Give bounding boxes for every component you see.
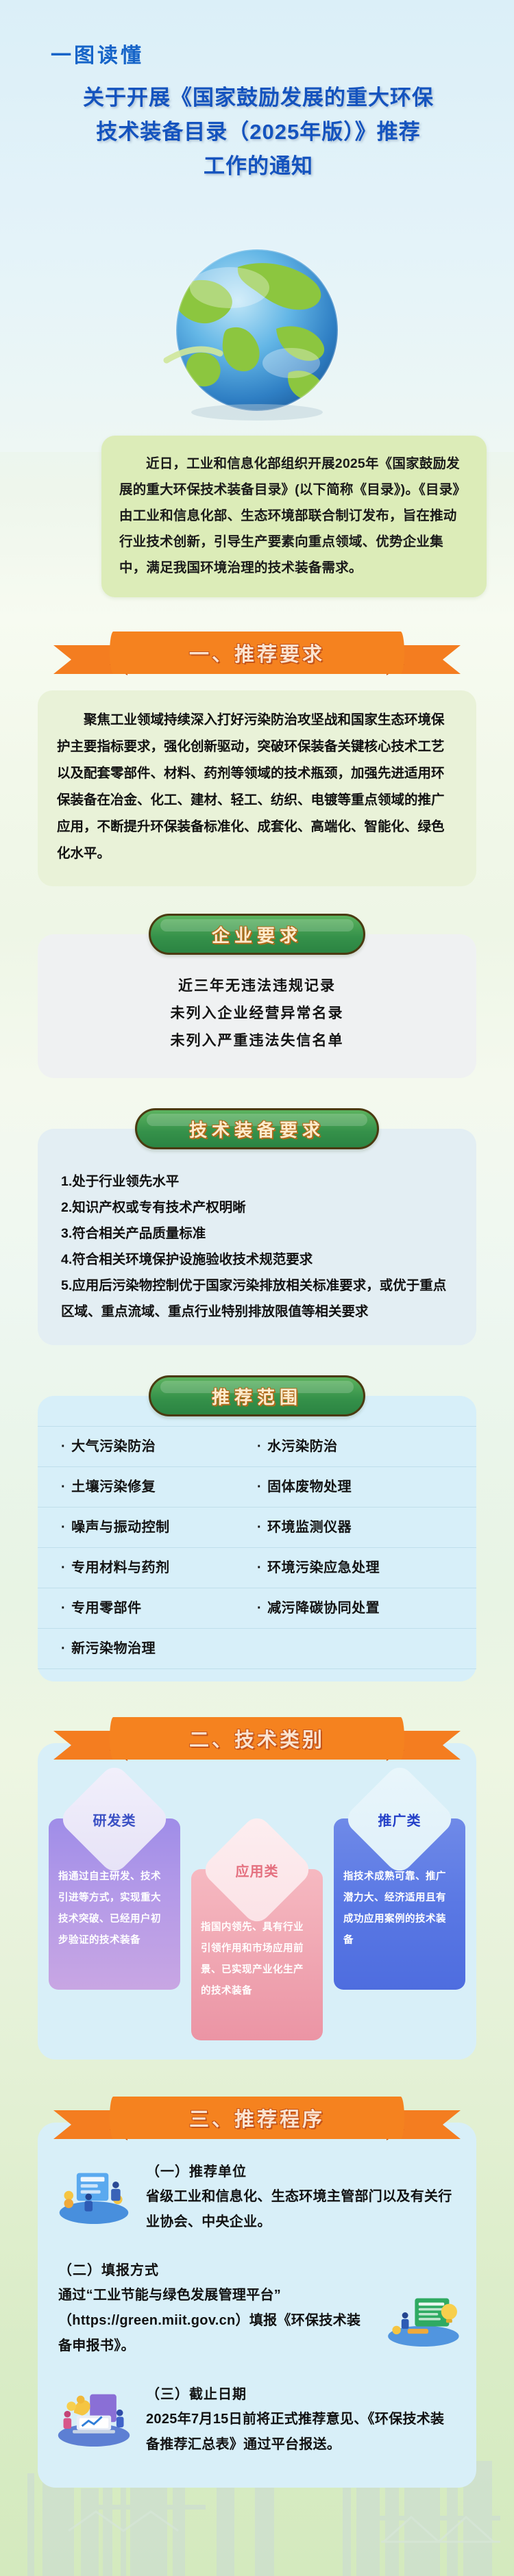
- ribbon-body: 二、技术类别: [110, 1717, 404, 1760]
- scope-row: ·噪声与振动控制 ·环境监测仪器: [38, 1507, 476, 1547]
- title-line-3: 工作的通知: [42, 149, 474, 184]
- bullet-dot-icon: ·: [257, 1520, 262, 1535]
- bullet-dot-icon: ·: [257, 1439, 262, 1454]
- scope-cell: ·专用材料与药剂: [61, 1548, 257, 1588]
- tech-category-app-name: 应用类: [217, 1829, 297, 1910]
- ribbon-body: 三、推荐程序: [110, 2097, 404, 2139]
- scope-cell-text: 土壤污染修复: [71, 1479, 156, 1495]
- scope-cell: ·环境监测仪器: [257, 1508, 453, 1547]
- scope-cell: ·大气污染防治: [61, 1427, 257, 1466]
- bullet-dot-icon: ·: [257, 1479, 262, 1495]
- equipment-item: 5.应用后污染物控制优于国家污染排放相关标准要求，或优于重点区域、重点流域、重点…: [61, 1273, 453, 1325]
- laptop-growth-icon: [54, 2386, 134, 2449]
- section-banner-1-label: 一、推荐要求: [189, 638, 325, 667]
- procedure-block-1-text: 省级工业和信息化、生态环境主管部门以及有关行业协会、中央企业。: [146, 2184, 456, 2235]
- scope-cell-text: 环境监测仪器: [267, 1520, 352, 1535]
- ribbon-body: 一、推荐要求: [110, 632, 404, 674]
- scope-cell: ·专用零部件: [61, 1588, 257, 1628]
- scope-row: ·大气污染防治 ·水污染防治: [38, 1426, 476, 1466]
- scope-cell-text: 固体废物处理: [267, 1479, 352, 1495]
- diamond-cap-icon: 推广类: [343, 1762, 457, 1877]
- scope-row: ·新污染物治理: [38, 1628, 476, 1669]
- bullet-dot-icon: ·: [61, 1641, 66, 1656]
- scope-cell: ·固体废物处理: [257, 1467, 453, 1507]
- equipment-requirements-card: 1.处于行业领先水平 2.知识产权或专有技术产权明晰 3.符合相关产品质量标准 …: [38, 1129, 476, 1345]
- equipment-item: 4.符合相关环境保护设施验收技术规范要求: [61, 1247, 453, 1273]
- tech-category-promote-desc: 指技术成熟可靠、推广潜力大、经济适用且有成功应用案例的技术装备: [343, 1866, 456, 1951]
- tech-category-promote: 推广类 指技术成熟可靠、推广潜力大、经济适用且有成功应用案例的技术装备: [334, 1779, 465, 1990]
- section-banner-3: 三、推荐程序: [110, 2097, 404, 2144]
- section-banner-2: 二、技术类别: [110, 1717, 404, 1765]
- bullet-dot-icon: ·: [61, 1439, 66, 1454]
- scope-card: ·大气污染防治 ·水污染防治 ·土壤污染修复 ·固体废物处理 ·噪声与振动控制 …: [38, 1396, 476, 1681]
- eyebrow-label: 一图读懂: [51, 38, 144, 68]
- scope-label: 推荐范围: [212, 1384, 302, 1409]
- enterprise-line: 未列入企业经营异常名录: [51, 1000, 463, 1027]
- scope-cell-empty: [257, 1629, 453, 1668]
- title-line-2: 技术装备目录（2025年版）》推荐: [42, 115, 474, 149]
- enterprise-line: 未列入严重违法失信名单: [51, 1027, 463, 1055]
- procedure-block-3: （三）截止日期 2025年7月15日前将正式推荐意见、《环保技术装备推荐汇总表》…: [58, 2382, 456, 2458]
- equipment-item: 1.处于行业领先水平: [61, 1168, 453, 1195]
- intro-text: 近日，工业和信息化部组织开展2025年《国家鼓励发展的重大环保技术装备目录》(以…: [119, 451, 469, 581]
- section-1-body-card: 聚焦工业领域持续深入打好污染防治攻坚战和国家生态环境保护主要指标要求，强化创新驱…: [38, 690, 476, 886]
- bullet-dot-icon: ·: [61, 1520, 66, 1535]
- infographic-page: 一图读懂 关于开展《国家鼓励发展的重大环保 技术装备目录（2025年版）》推荐 …: [0, 0, 514, 2549]
- scope-cell-text: 新污染物治理: [71, 1641, 156, 1656]
- equipment-requirements-pill: 技术装备要求: [135, 1108, 379, 1149]
- scope-pill: 推荐范围: [149, 1375, 365, 1416]
- bullet-dot-icon: ·: [61, 1479, 66, 1495]
- scope-cell-text: 噪声与振动控制: [71, 1520, 170, 1535]
- diamond-cap-icon: 应用类: [200, 1813, 315, 1927]
- scope-cell: ·减污降碳协同处置: [257, 1588, 453, 1628]
- section-banner-2-label: 二、技术类别: [189, 1724, 325, 1753]
- scope-row: ·专用零部件 ·减污降碳协同处置: [38, 1588, 476, 1628]
- tech-categories-card: 研发类 指通过自主研发、技术引进等方式，实现重大技术突破、已经用户初步验证的技术…: [38, 1743, 476, 2060]
- bullet-dot-icon: ·: [257, 1560, 262, 1575]
- procedure-block-3-text: 2025年7月15日前将正式推荐意见、《环保技术装备推荐汇总表》通过平台报送。: [146, 2407, 456, 2458]
- presentation-chart-icon: [54, 2164, 134, 2227]
- scope-cell-text: 专用零部件: [71, 1601, 142, 1616]
- scope-cell: ·新污染物治理: [61, 1629, 257, 1668]
- procedure-block-2-title: （二）填报方式: [58, 2258, 363, 2283]
- scope-cell: ·水污染防治: [257, 1427, 453, 1466]
- tech-category-app-desc: 指国内领先、具有行业引领作用和市场应用前景、已实现产业化生产的技术装备: [201, 1917, 313, 2002]
- scope-cell: ·噪声与振动控制: [61, 1508, 257, 1547]
- section-banner-3-label: 三、推荐程序: [189, 2103, 325, 2132]
- title-line-1: 关于开展《国家鼓励发展的重大环保: [42, 81, 474, 115]
- tech-category-rd: 研发类 指通过自主研发、技术引进等方式，实现重大技术突破、已经用户初步验证的技术…: [49, 1779, 180, 1990]
- scope-cell-text: 大气污染防治: [71, 1439, 156, 1454]
- procedure-block-2-text: 通过“工业节能与绿色发展管理平台”（https://green.miit.gov…: [58, 2283, 363, 2359]
- bullet-dot-icon: ·: [61, 1601, 66, 1616]
- bullet-dot-icon: ·: [61, 1560, 66, 1575]
- intro-card: 近日，工业和信息化部组织开展2025年《国家鼓励发展的重大环保技术装备目录》(以…: [101, 436, 487, 597]
- scope-cell: ·土壤污染修复: [61, 1467, 257, 1507]
- scope-row: ·专用材料与药剂 ·环境污染应急处理: [38, 1547, 476, 1588]
- enterprise-line: 近三年无违法违规记录: [51, 973, 463, 1000]
- scope-cell-text: 专用材料与药剂: [71, 1560, 170, 1575]
- enterprise-requirements-pill: 企业要求: [149, 914, 365, 955]
- tech-category-promote-name: 推广类: [359, 1779, 440, 1860]
- enterprise-requirements-card: 近三年无违法违规记录 未列入企业经营异常名录 未列入严重违法失信名单: [38, 934, 476, 1078]
- procedure-block-1-title: （一）推荐单位: [146, 2160, 456, 2184]
- tech-category-rd-desc: 指通过自主研发、技术引进等方式，实现重大技术突破、已经用户初步验证的技术装备: [58, 1866, 171, 1951]
- section-1-body-text: 聚焦工业领域持续深入打好污染防治攻坚战和国家生态环境保护主要指标要求，强化创新驱…: [57, 707, 457, 867]
- procedure-block-2: （二）填报方式 通过“工业节能与绿色发展管理平台”（https://green.…: [58, 2258, 456, 2359]
- equipment-item: 3.符合相关产品质量标准: [61, 1221, 453, 1247]
- diamond-cap-icon: 研发类: [58, 1762, 172, 1877]
- enterprise-requirements-label: 企业要求: [212, 922, 302, 947]
- scope-cell-text: 减污降碳协同处置: [267, 1601, 380, 1616]
- page-title: 关于开展《国家鼓励发展的重大环保 技术装备目录（2025年版）》推荐 工作的通知: [42, 81, 474, 184]
- procedure-card: （一）推荐单位 省级工业和信息化、生态环境主管部门以及有关行业协会、中央企业。: [38, 2123, 476, 2488]
- scope-cell: ·环境污染应急处理: [257, 1548, 453, 1588]
- procedure-block-3-title: （三）截止日期: [146, 2382, 456, 2407]
- equipment-requirements-label: 技术装备要求: [189, 1116, 325, 1142]
- procedure-block-1: （一）推荐单位 省级工业和信息化、生态环境主管部门以及有关行业协会、中央企业。: [58, 2160, 456, 2235]
- tech-category-rd-name: 研发类: [74, 1779, 155, 1860]
- bullet-dot-icon: ·: [257, 1601, 262, 1616]
- scope-cell-text: 环境污染应急处理: [267, 1560, 380, 1575]
- scope-row: ·土壤污染修复 ·固体废物处理: [38, 1466, 476, 1507]
- document-idea-icon: [383, 2290, 463, 2353]
- equipment-item: 2.知识产权或专有技术产权明晰: [61, 1195, 453, 1221]
- scope-cell-text: 水污染防治: [267, 1439, 338, 1454]
- section-banner-1: 一、推荐要求: [110, 632, 404, 679]
- tech-category-app: 应用类 指国内领先、具有行业引领作用和市场应用前景、已实现产业化生产的技术装备: [191, 1829, 323, 2040]
